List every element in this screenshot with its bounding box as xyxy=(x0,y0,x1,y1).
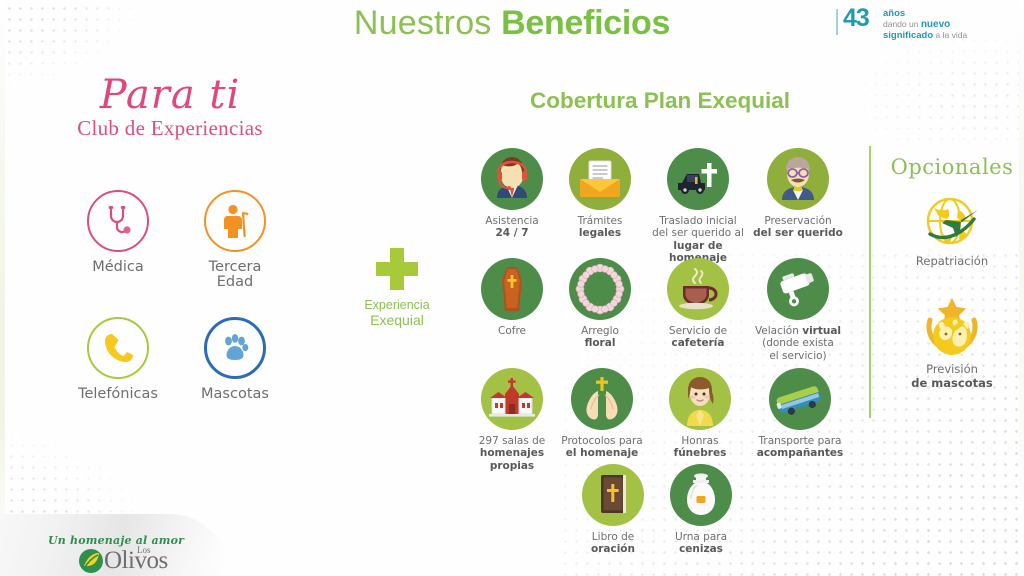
benefit-circle xyxy=(769,368,831,430)
caption-bold1: oración xyxy=(591,543,635,555)
praying-hands-icon xyxy=(579,375,625,423)
page-title-light: Nuestros xyxy=(354,4,492,42)
benefit-circle xyxy=(481,148,543,210)
telefonicas-ring xyxy=(87,317,149,379)
optional-item-prevision-mascotas[interactable]: Previsión de mascotas xyxy=(880,296,1024,390)
benefit-circle xyxy=(669,368,731,430)
footer-logo: Un homenaje al amor Olivos Los xyxy=(0,514,240,576)
caption-line1: Honras xyxy=(681,435,718,447)
club-subtitle: Club de Experiencias xyxy=(0,116,340,141)
club-item-telefonicas[interactable]: Telefónicas xyxy=(58,317,178,402)
benefit-circle xyxy=(767,148,829,210)
caption-bold1: de mascotas xyxy=(911,376,992,390)
caption-bold1: virtual xyxy=(802,325,841,337)
caption-line1: Previsión xyxy=(926,362,978,376)
caption-line1: Asistencia xyxy=(485,215,538,227)
headset-agent-icon xyxy=(485,152,539,206)
caption-bold2: el homenaje xyxy=(566,447,638,459)
tercera-edad-ring xyxy=(204,190,266,252)
caption-line2: del ser querido al xyxy=(652,227,744,239)
repatriacion-icon-wrap xyxy=(920,188,984,252)
slide-canvas: Nuestros Beneficios 43 años dando un nue… xyxy=(0,0,1024,576)
benefit-circle xyxy=(767,258,829,320)
experiencia-label-1: Experiencia xyxy=(338,298,456,312)
elderly-person-icon xyxy=(218,203,252,239)
caption-line1: Preservación xyxy=(764,215,831,227)
benefit-circle xyxy=(582,464,644,526)
flower-wreath-icon xyxy=(575,264,625,314)
experiencia-exequial-block: Experiencia Exequial xyxy=(338,248,456,328)
page-title-bold: Beneficios xyxy=(501,4,670,42)
club-item-label-tercera-edad: Tercera Edad xyxy=(175,260,295,290)
caption-bold2: acompañantes xyxy=(757,447,844,459)
mourning-woman-icon xyxy=(675,372,725,426)
benefit-cafeteria[interactable]: Servicio de cafetería xyxy=(644,258,752,350)
benefit-caption: Transporte para acompañantes xyxy=(746,435,854,460)
olivos-leaf-mark-icon xyxy=(78,548,104,574)
caption-bold1: floral xyxy=(585,337,616,349)
benefit-caption: Urna para cenizas xyxy=(647,531,755,556)
hearse-cross-icon xyxy=(673,157,723,201)
elder-man-icon xyxy=(771,152,825,206)
caption-bold1: del ser querido xyxy=(753,227,843,239)
anniversary-line2: dando un nuevo xyxy=(883,19,950,30)
benefit-circle xyxy=(481,258,543,320)
caption-bold1: cenizas xyxy=(679,543,723,555)
benefit-circle xyxy=(571,368,633,430)
caption-bold1: 24 / 7 xyxy=(495,227,528,239)
paw-icon xyxy=(218,331,252,365)
benefit-caption: Servicio de cafetería xyxy=(644,325,752,350)
anniversary-anos: años xyxy=(883,8,905,19)
para-ti-script-title: Para ti xyxy=(0,72,340,118)
caption-bold1: legales xyxy=(579,227,621,239)
club-item-label-mascotas: Mascotas xyxy=(175,387,295,402)
caption-line3: propias xyxy=(490,460,534,472)
benefit-tramites[interactable]: Trámites legales xyxy=(546,148,654,240)
mascotas-ring xyxy=(204,317,266,379)
caption-line1: Velación xyxy=(755,325,802,337)
optional-divider xyxy=(869,146,871,418)
benefit-preservacion[interactable]: Preservación del ser querido xyxy=(744,148,852,240)
optional-caption: Repatriación xyxy=(880,255,1024,269)
caption-line1: Transporte para xyxy=(759,435,842,447)
prayer-book-icon xyxy=(594,472,632,518)
caption-line1: Servicio de xyxy=(669,325,727,337)
caption-line1: Urna para xyxy=(675,531,727,543)
anniversary-divider xyxy=(836,9,838,35)
phone-icon xyxy=(101,331,135,365)
caption-bold1: cafetería xyxy=(671,337,724,349)
caption-line1: 297 salas de xyxy=(479,435,546,447)
benefit-arreglo-floral[interactable]: Arreglo floral xyxy=(546,258,654,350)
anniversary-number: 43 xyxy=(843,4,869,33)
benefit-velacion-virtual[interactable]: Velación virtual (donde exista el servic… xyxy=(744,258,852,362)
envelope-document-icon xyxy=(577,157,623,201)
coverage-title: Cobertura Plan Exequial xyxy=(440,88,880,114)
anniversary-line3: significado a la vida xyxy=(883,30,967,41)
benefit-circle xyxy=(670,464,732,526)
anniversary-line2-bold: nuevo xyxy=(921,19,950,30)
caption-line1: Arreglo xyxy=(581,325,619,337)
anniversary-line2-pre: dando un xyxy=(883,19,921,29)
club-item-label-medica: Médica xyxy=(58,260,178,275)
coffee-cup-icon xyxy=(675,266,721,312)
caption-line1: Trámites xyxy=(578,215,623,227)
benefit-caption: Velación virtual (donde exista el servic… xyxy=(744,325,852,362)
benefit-honras-funebres[interactable]: Honras fúnebres xyxy=(646,368,754,460)
bus-icon xyxy=(774,379,826,419)
caption-line1: Repatriación xyxy=(916,254,988,268)
benefit-circle xyxy=(667,148,729,210)
stethoscope-icon xyxy=(100,203,136,239)
benefit-transporte[interactable]: Transporte para acompañantes xyxy=(746,368,854,460)
caption-line3: el servicio) xyxy=(769,350,826,362)
coffin-icon xyxy=(495,265,529,313)
plus-icon xyxy=(376,248,418,290)
benefit-caption: Arreglo floral xyxy=(546,325,654,350)
anniversary-logo: 43 años dando un nuevo significado a la … xyxy=(836,6,1022,48)
caption-bold1: fúnebres xyxy=(674,447,727,459)
footer-tagline: Un homenaje al amor xyxy=(48,534,184,547)
benefit-circle xyxy=(481,368,543,430)
caption-line1: Libro de xyxy=(592,531,634,543)
club-item-tercera-edad[interactable]: Tercera Edad xyxy=(175,190,295,290)
benefit-urna-cenizas[interactable]: Urna para cenizas xyxy=(647,464,755,556)
medica-ring xyxy=(87,190,149,252)
chapel-icon xyxy=(486,376,538,422)
club-item-label-telefonicas: Telefónicas xyxy=(58,387,178,402)
club-item-mascotas[interactable]: Mascotas xyxy=(175,317,295,402)
benefit-circle xyxy=(569,258,631,320)
optional-caption: Previsión de mascotas xyxy=(880,363,1024,390)
footer-brand-prefix: Los xyxy=(137,545,151,555)
club-item-medica[interactable]: Médica xyxy=(58,190,178,275)
right-edge-accent xyxy=(1019,0,1024,576)
experiencia-label-2: Exequial xyxy=(338,312,456,328)
caption-line2: (donde exista xyxy=(762,337,834,349)
anniversary-line3-bold: significado xyxy=(883,30,933,41)
benefit-circle xyxy=(569,148,631,210)
pets-star-icon xyxy=(920,296,984,362)
caption-line1: Traslado inicial xyxy=(659,215,736,227)
benefit-caption: Honras fúnebres xyxy=(646,435,754,460)
benefit-circle xyxy=(667,258,729,320)
prevision-mascotas-icon-wrap xyxy=(920,296,984,360)
optional-panel-title: Opcionales xyxy=(880,155,1024,179)
globe-plane-icon xyxy=(920,188,984,252)
benefit-traslado[interactable]: Traslado inicial del ser querido al luga… xyxy=(644,148,752,265)
security-camera-icon xyxy=(774,268,822,310)
anniversary-line3-post: a la vida xyxy=(933,30,967,40)
benefit-caption: Trámites legales xyxy=(546,215,654,240)
benefit-caption: Preservación del ser querido xyxy=(744,215,852,240)
ash-urn-icon xyxy=(682,471,720,519)
footer-brand: Olivos xyxy=(104,547,168,575)
caption-bold2: homenajes xyxy=(480,447,544,459)
benefit-caption: Protocolos para el homenaje xyxy=(548,435,656,460)
benefit-protocolos[interactable]: Protocolos para el homenaje xyxy=(548,368,656,460)
caption-line1: Protocolos para xyxy=(561,435,642,447)
optional-item-repatriacion[interactable]: Repatriación xyxy=(880,188,1024,269)
caption-line1: Cofre xyxy=(498,325,526,337)
